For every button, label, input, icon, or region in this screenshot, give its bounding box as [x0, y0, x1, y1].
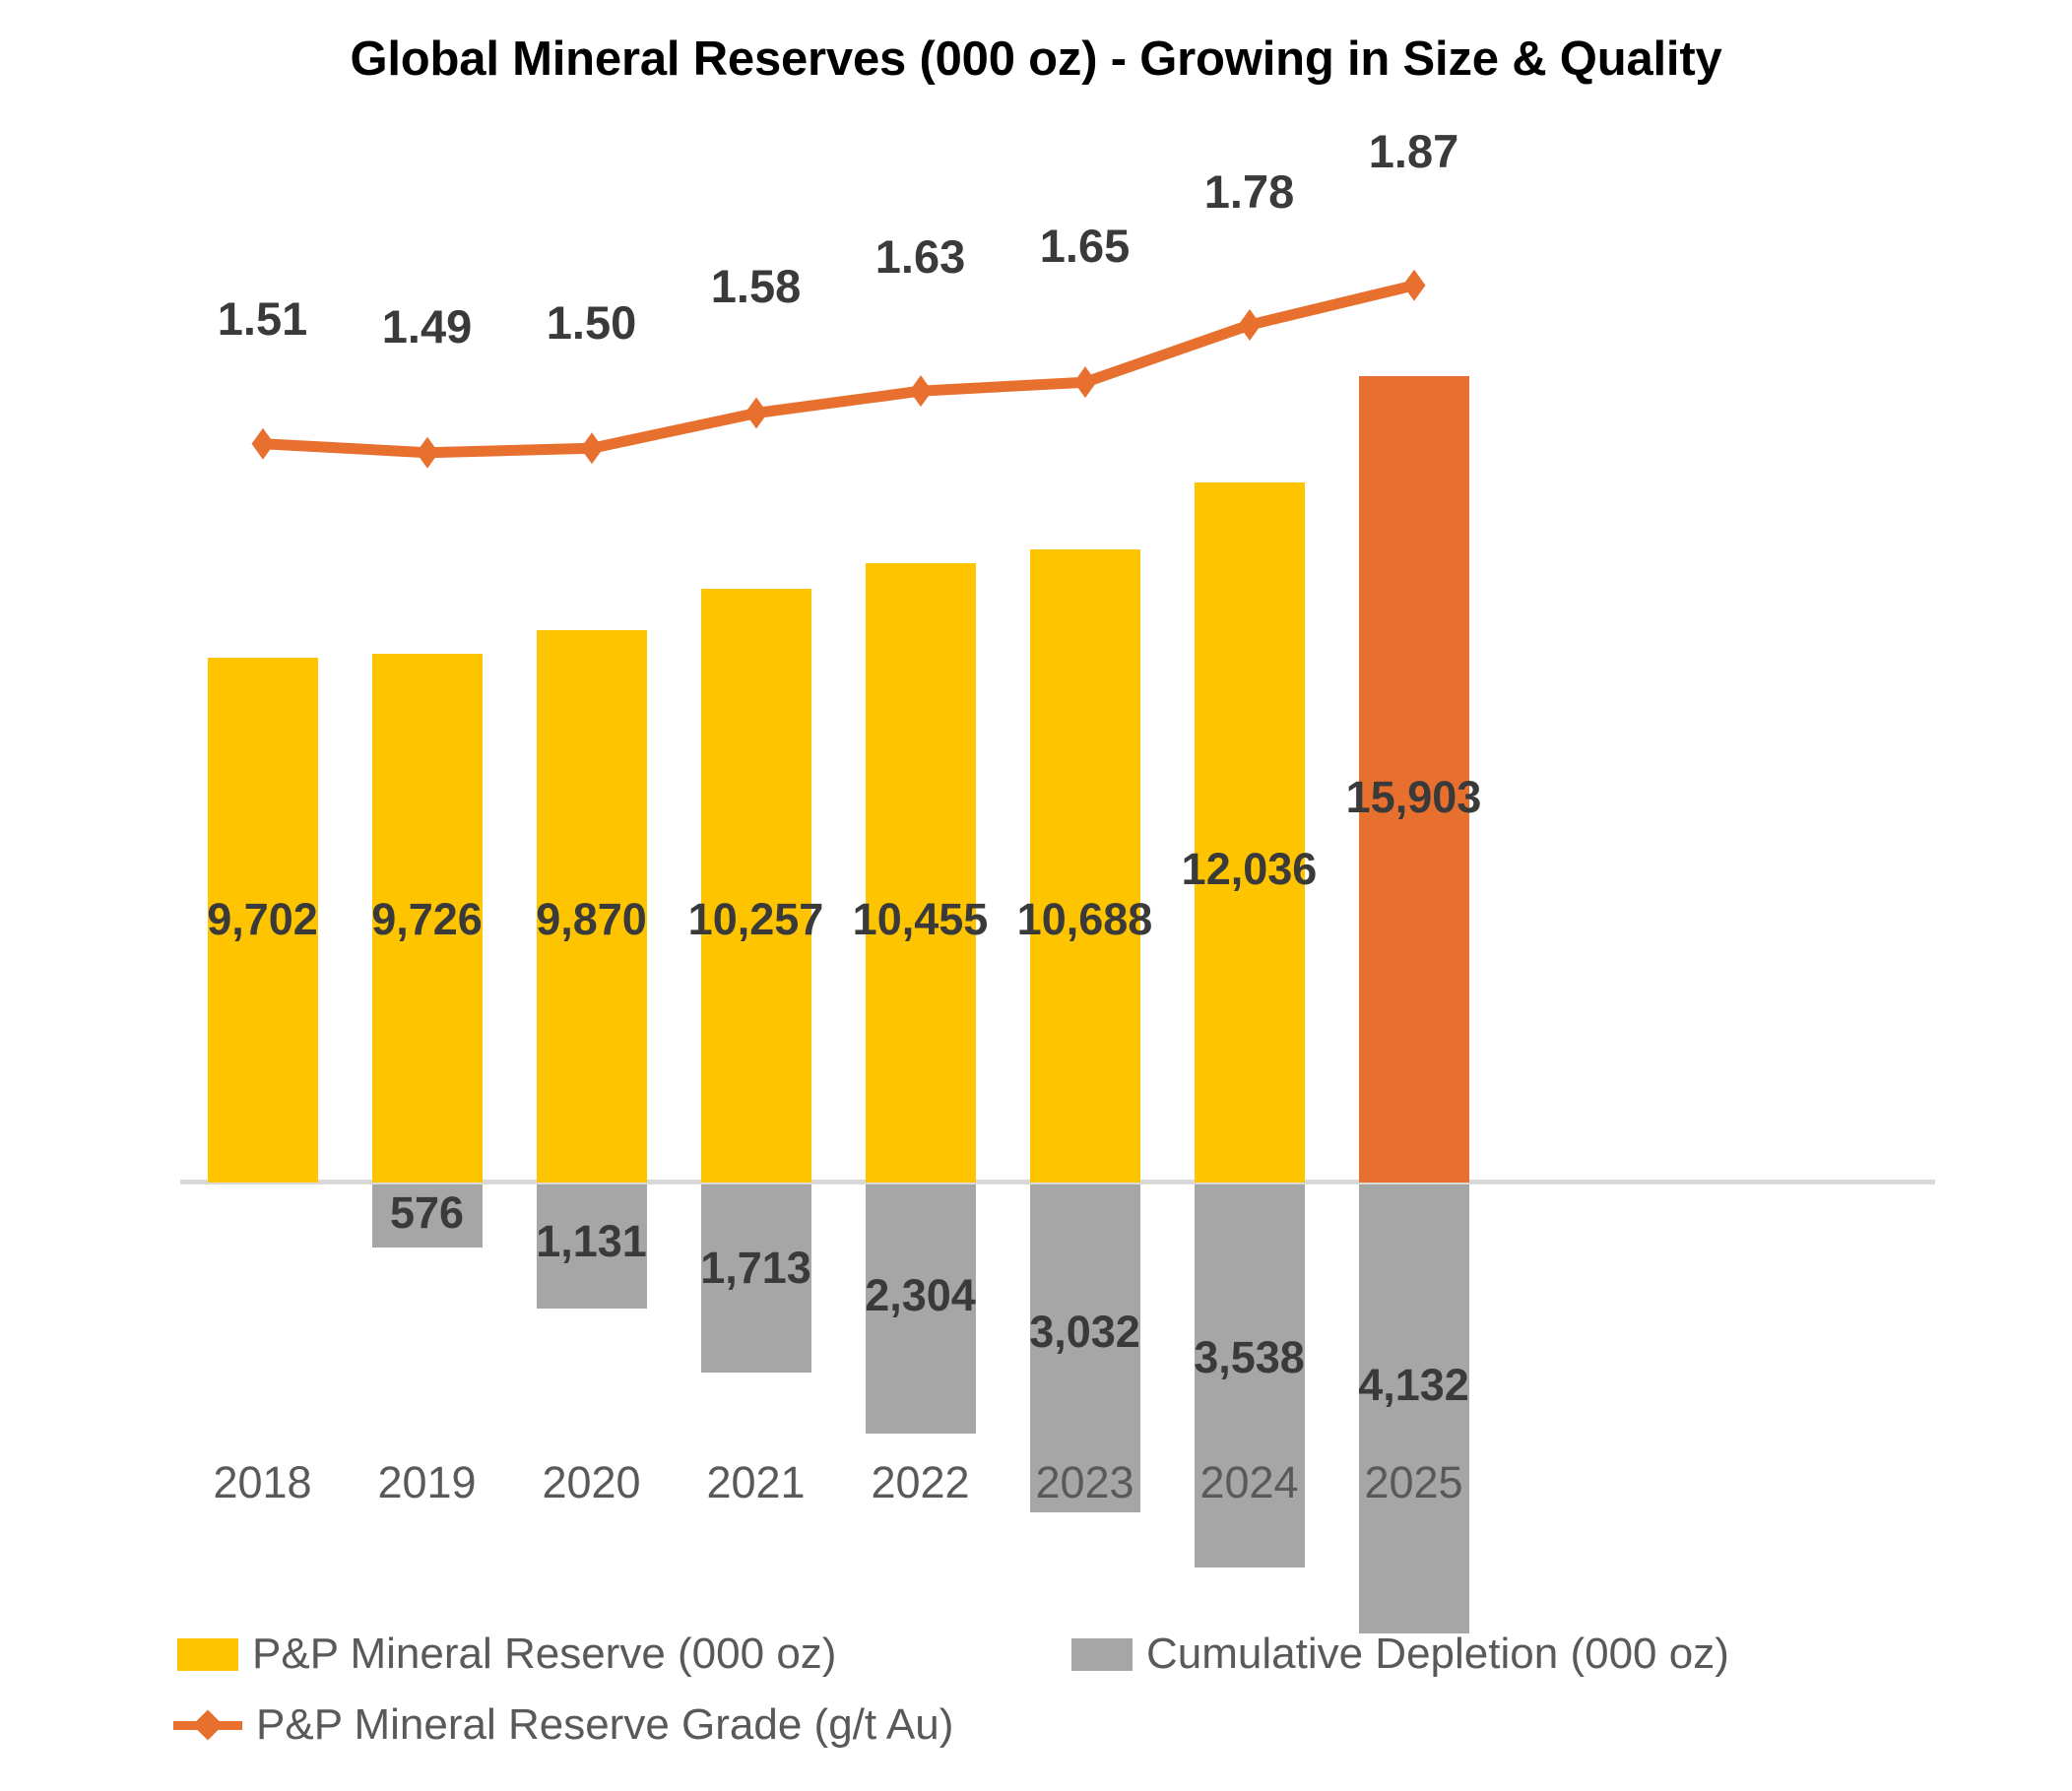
reserve-label-2021: 10,257	[674, 894, 838, 945]
legend-item-depletion[interactable]: Cumulative Depletion (000 oz)	[1071, 1630, 1729, 1679]
reserve-label-2023: 10,688	[1003, 894, 1167, 945]
grade-label-2018: 1.51	[180, 291, 345, 346]
grade-label-2024: 1.78	[1167, 164, 1331, 219]
bar-group-2018: 1.51 9,702 2018	[180, 0, 345, 1791]
reserve-label-2022: 10,455	[838, 894, 1003, 945]
grade-label-2022: 1.63	[838, 229, 1003, 284]
grade-label-2020: 1.50	[509, 295, 674, 350]
grade-label-2019: 1.49	[345, 299, 509, 353]
legend-row-2: P&P Mineral Reserve Grade (g/t Au)	[177, 1700, 1950, 1771]
x-tick-2024: 2024	[1167, 1457, 1331, 1508]
bar-group-2020: 1.50 9,870 1,131 2020	[509, 0, 674, 1791]
chart-root: Global Mineral Reserves (000 oz) - Growi…	[0, 0, 2072, 1791]
legend-diamond-marker-icon	[192, 1709, 223, 1740]
depletion-label-2025: 4,132	[1331, 1360, 1496, 1411]
bar-group-2021: 1.58 10,257 1,713 2021	[674, 0, 838, 1791]
reserve-bar-2023[interactable]	[1030, 549, 1140, 1183]
reserve-label-2025: 15,903	[1331, 772, 1496, 823]
legend-label-depletion: Cumulative Depletion (000 oz)	[1146, 1630, 1729, 1679]
bar-group-2024: 1.78 12,036 3,538 2024	[1167, 0, 1331, 1791]
legend-label-grade: P&P Mineral Reserve Grade (g/t Au)	[256, 1700, 953, 1750]
x-tick-2025: 2025	[1331, 1457, 1496, 1508]
x-tick-2020: 2020	[509, 1457, 674, 1508]
chart-legend: P&P Mineral Reserve (000 oz) Cumulative …	[177, 1630, 1950, 1771]
depletion-label-2021: 1,713	[674, 1243, 838, 1294]
x-tick-2023: 2023	[1003, 1457, 1167, 1508]
reserve-label-2020: 9,870	[509, 894, 674, 945]
legend-item-grade[interactable]: P&P Mineral Reserve Grade (g/t Au)	[173, 1700, 953, 1750]
bar-group-2023: 1.65 10,688 3,032 2023	[1003, 0, 1167, 1791]
reserve-bar-2024[interactable]	[1195, 482, 1305, 1183]
reserve-label-2024: 12,036	[1167, 844, 1331, 895]
legend-label-reserve: P&P Mineral Reserve (000 oz)	[252, 1630, 836, 1679]
x-tick-2019: 2019	[345, 1457, 509, 1508]
depletion-label-2024: 3,538	[1167, 1332, 1331, 1383]
grade-label-2025: 1.87	[1331, 124, 1496, 178]
legend-row-1: P&P Mineral Reserve (000 oz) Cumulative …	[177, 1630, 1950, 1700]
depletion-label-2023: 3,032	[1003, 1307, 1167, 1358]
bar-group-2022: 1.63 10,455 2,304 2022	[838, 0, 1003, 1791]
bar-group-2025: 1.87 15,903 4,132 2025	[1331, 0, 1496, 1791]
x-tick-2022: 2022	[838, 1457, 1003, 1508]
legend-swatch-reserve-icon	[177, 1638, 238, 1671]
reserve-bar-2021[interactable]	[701, 589, 811, 1183]
reserve-label-2019: 9,726	[345, 894, 509, 945]
plot-area: 1.51 9,702 2018 1.49 9,726 576 2019 1.50…	[0, 0, 2072, 1791]
depletion-label-2022: 2,304	[838, 1270, 1003, 1321]
grade-label-2021: 1.58	[674, 259, 838, 313]
depletion-label-2019: 576	[345, 1187, 509, 1239]
grade-label-2023: 1.65	[1003, 219, 1167, 273]
legend-item-reserve[interactable]: P&P Mineral Reserve (000 oz)	[177, 1630, 836, 1679]
x-tick-2018: 2018	[180, 1457, 345, 1508]
reserve-label-2018: 9,702	[180, 894, 345, 945]
legend-swatch-depletion-icon	[1071, 1638, 1133, 1671]
bar-group-2019: 1.49 9,726 576 2019	[345, 0, 509, 1791]
depletion-label-2020: 1,131	[509, 1216, 674, 1267]
x-tick-2021: 2021	[674, 1457, 838, 1508]
legend-line-diamond-icon	[173, 1708, 242, 1742]
reserve-bar-2022[interactable]	[866, 563, 976, 1183]
